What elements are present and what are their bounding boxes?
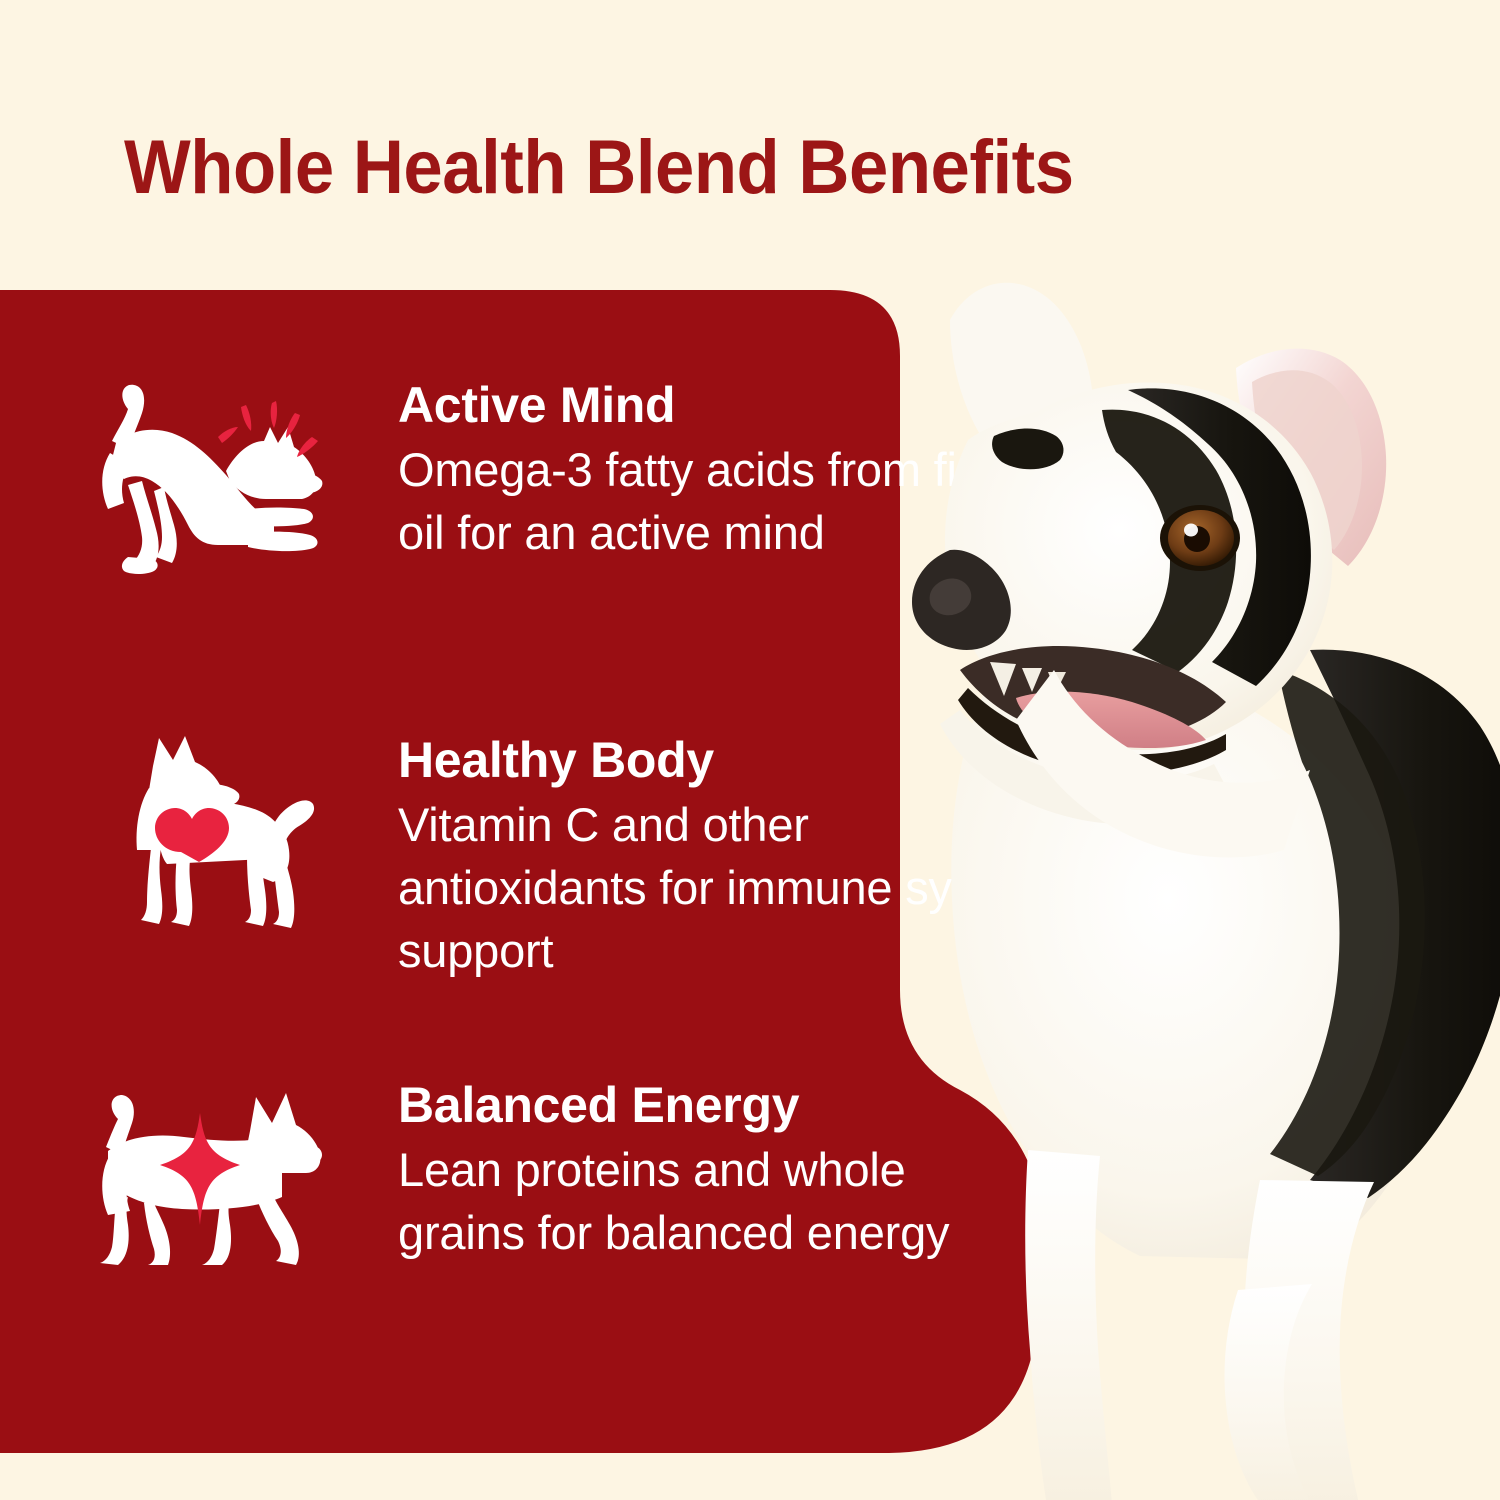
dog-eye-highlight xyxy=(1184,524,1198,537)
dog-back-black xyxy=(1310,650,1500,1198)
benefit-description: Vitamin C and other antioxidants for imm… xyxy=(398,793,1058,982)
benefit-title: Active Mind xyxy=(398,374,1038,436)
dog-pupil xyxy=(1184,526,1210,552)
benefit-description: Lean proteins and whole grains for balan… xyxy=(398,1138,1018,1264)
benefit-description: Omega-3 fatty acids from fish oil for an… xyxy=(398,438,1038,564)
dog-mask-core xyxy=(1102,410,1236,672)
dog-hock xyxy=(1225,1284,1315,1500)
benefits-panel: Active Mind Omega-3 fatty acids from fis… xyxy=(0,290,1080,1453)
dog-play-bow-spark-icon xyxy=(96,370,326,580)
dog-rear-leg xyxy=(1244,1180,1374,1500)
page-title: Whole Health Blend Benefits xyxy=(124,122,1240,214)
dog-standing-heart-icon xyxy=(96,725,326,935)
benefit-item-healthy-body: Healthy Body Vitamin C and other antioxi… xyxy=(96,725,1058,982)
dog-eye-socket xyxy=(1160,505,1240,571)
dog-head-mask xyxy=(1128,388,1311,686)
dog-eye xyxy=(1168,510,1234,566)
dog-ear-right xyxy=(1236,349,1386,566)
benefit-text-block: Balanced Energy Lean proteins and whole … xyxy=(326,1070,1018,1264)
benefit-item-balanced-energy: Balanced Energy Lean proteins and whole … xyxy=(96,1070,1018,1280)
benefit-text-block: Healthy Body Vitamin C and other antioxi… xyxy=(326,725,1058,982)
benefit-item-active-mind: Active Mind Omega-3 fatty acids from fis… xyxy=(96,370,1038,580)
dog-ear-right-inner xyxy=(1252,370,1362,550)
dog-saddle xyxy=(1270,670,1425,1176)
benefit-title: Balanced Energy xyxy=(398,1074,1018,1136)
benefit-text-block: Active Mind Omega-3 fatty acids from fis… xyxy=(326,370,1038,564)
benefit-title: Healthy Body xyxy=(398,729,1058,791)
product-benefits-infographic: Whole Health Blend Benefits xyxy=(0,0,1500,1500)
dog-running-sparkle-icon xyxy=(96,1070,326,1280)
